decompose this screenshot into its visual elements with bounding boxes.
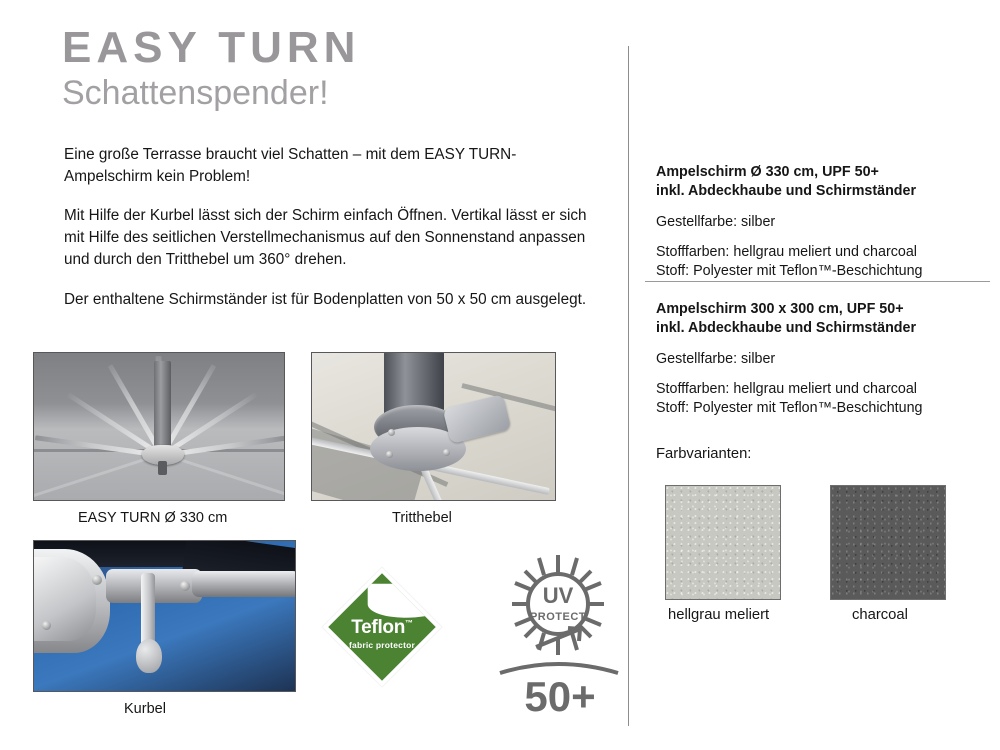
teflon-subtitle: fabric protector (320, 640, 444, 650)
photo-foot-pedal (311, 352, 556, 501)
uv-label: UV (543, 583, 574, 608)
page-title: EASY TURN Schattenspender! (62, 26, 360, 112)
spec-frame-color-330: Gestellfarbe: silber (656, 213, 986, 232)
screw-icon (180, 581, 190, 591)
spec-frame-color-300: Gestellfarbe: silber (656, 350, 986, 369)
uv-rating: 50+ (524, 673, 595, 715)
teflon-name: Teflon (351, 617, 405, 638)
spec-title-330: Ampelschirm Ø 330 cm, UPF 50+ inkl. Abde… (656, 163, 986, 202)
teflon-trademark: ™ (405, 619, 413, 628)
swatch-charcoal[interactable] (830, 485, 946, 600)
screw-icon (443, 449, 450, 456)
support-tube (192, 571, 296, 597)
photo-crank-handle (33, 540, 296, 692)
caption-crank-handle: Kurbel (124, 701, 166, 717)
spec-title-300: Ampelschirm 300 x 300 cm, UPF 50+ inkl. … (656, 300, 986, 339)
uv-protect-icon: UV PROTECT 50+ (496, 551, 624, 715)
horizontal-divider (645, 281, 990, 282)
screw-icon (386, 451, 393, 458)
teflon-wordmark: Teflon™ (320, 618, 444, 637)
spec-block-300: Ampelschirm 300 x 300 cm, UPF 50+ inkl. … (656, 300, 986, 418)
canopy-mast (154, 361, 171, 457)
variants-label: Farbvarianten: (656, 446, 751, 462)
swatch-label-hellgrau-meliert: hellgrau meliert (668, 607, 769, 623)
description-paragraph-3: Der enthaltene Schirmständer ist für Bod… (64, 289, 594, 311)
caption-canopy-underside: EASY TURN Ø 330 cm (78, 510, 227, 526)
teflon-badge: Teflon™ fabric protector (320, 566, 444, 688)
description-paragraph-1: Eine große Terrasse braucht viel Schatte… (64, 144, 594, 187)
spec-fabric-330: Stoff: Polyester mit Teflon™-Beschichtun… (656, 262, 986, 281)
spec-block-330: Ampelschirm Ø 330 cm, UPF 50+ inkl. Abde… (656, 163, 986, 281)
vertical-divider (628, 46, 629, 726)
spec-fabric-colors-300: Stofffarben: hellgrau meliert und charco… (656, 380, 986, 399)
crank-knob (136, 639, 162, 673)
spec-title-line2: inkl. Abdeckhaube und Schirmständer (656, 183, 916, 199)
spec-fabric-300: Stoff: Polyester mit Teflon™-Beschichtun… (656, 399, 986, 418)
uv-protect-badge: UV PROTECT 50+ (496, 551, 624, 715)
caption-foot-pedal: Tritthebel (392, 510, 452, 526)
screw-icon (42, 621, 51, 630)
spec-title-line1: Ampelschirm 300 x 300 cm, UPF 50+ (656, 301, 904, 317)
fabric-arc (500, 664, 618, 673)
screw-icon (92, 575, 102, 585)
main-title: EASY TURN (62, 26, 360, 70)
description-text: Eine große Terrasse braucht viel Schatte… (64, 144, 594, 310)
subtitle: Schattenspender! (62, 74, 360, 112)
screw-icon (388, 429, 395, 436)
canopy-hub-bolt (158, 461, 167, 475)
spec-title-line2: inkl. Abdeckhaube und Schirmständer (656, 320, 916, 336)
spec-fabric-colors-330: Stofffarben: hellgrau meliert und charco… (656, 243, 986, 262)
swatch-label-charcoal: charcoal (852, 607, 908, 623)
spec-title-line1: Ampelschirm Ø 330 cm, UPF 50+ (656, 164, 879, 180)
swatch-hellgrau-meliert[interactable] (665, 485, 781, 600)
protect-label: PROTECT (530, 611, 586, 623)
photo-canopy-underside (33, 352, 285, 501)
description-paragraph-2: Mit Hilfe der Kurbel lässt sich der Schi… (64, 205, 594, 270)
